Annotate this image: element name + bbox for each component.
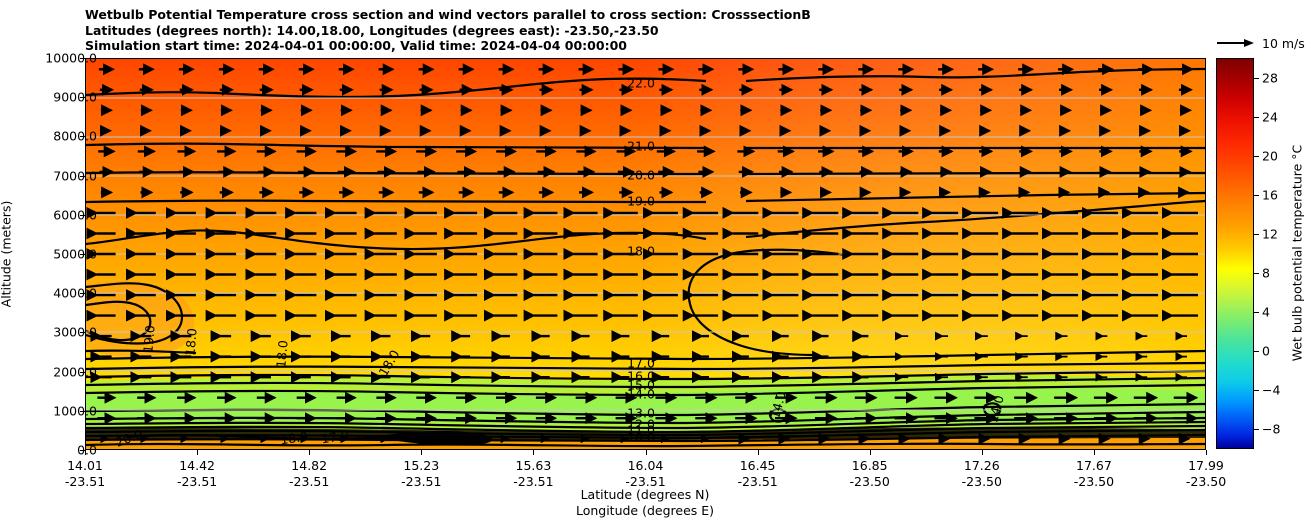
x-tick-label-longitude: -23.51 <box>289 474 329 489</box>
x-tick-label-latitude: 16.04 <box>628 458 664 473</box>
x-tick-label-latitude: 16.45 <box>740 458 776 473</box>
y-tick-label: 0.0 <box>77 443 97 458</box>
y-tick-label: 8000.0 <box>53 129 97 144</box>
colorbar-tick-label: 16 <box>1262 187 1278 202</box>
contour-label: 22.0 <box>627 76 655 91</box>
y-axis-label: Altitude (meters) <box>0 201 14 308</box>
y-tick-label: 10000.0 <box>45 51 97 66</box>
contour-label: 19.0 <box>627 194 655 209</box>
plot-inner: 22.021.020.019.018.017.016.015.014.013.0… <box>86 59 1205 449</box>
colorbar-tick-mark <box>1254 351 1259 352</box>
colorbar-tick-label: 12 <box>1262 226 1278 241</box>
x-tick-mark <box>85 450 86 455</box>
colorbar-tick-label: 4 <box>1262 305 1270 320</box>
x-tick-label-latitude: 15.63 <box>515 458 551 473</box>
colorbar-tick-label: 0 <box>1262 344 1270 359</box>
colorbar-tick-label: 24 <box>1262 109 1278 124</box>
contour-label: 19.0 <box>140 324 157 353</box>
colorbar-tick-label: −4 <box>1262 383 1280 398</box>
x-tick-mark <box>982 450 983 455</box>
x-tick-mark <box>533 450 534 455</box>
colorbar-tick-mark <box>1254 429 1259 430</box>
colorbar-tick-label: −8 <box>1262 422 1280 437</box>
contour-label: 21.0 <box>627 139 655 154</box>
colorbar-tick-label: 28 <box>1262 70 1278 85</box>
contour-label: 18.0 <box>182 327 199 356</box>
contour-label: 18.0 <box>273 339 290 368</box>
x-tick-mark <box>646 450 647 455</box>
x-tick-mark <box>421 450 422 455</box>
x-tick-label-longitude: -23.50 <box>962 474 1002 489</box>
x-tick-mark <box>870 450 871 455</box>
x-tick-label-latitude: 14.01 <box>67 458 103 473</box>
x-tick-label-longitude: -23.51 <box>401 474 441 489</box>
title-line-2: Latitudes (degrees north): 14.00,18.00, … <box>85 23 1205 39</box>
contour-label: 14.0 <box>627 387 655 402</box>
wind-key-label: 10 m/s <box>1262 36 1305 51</box>
x-tick-mark <box>1094 450 1095 455</box>
contour-label: 10.0 <box>627 430 655 445</box>
title-line-3: Simulation start time: 2024-04-01 00:00:… <box>85 38 1205 54</box>
x-tick-label-latitude: 17.67 <box>1076 458 1112 473</box>
x-tick-mark <box>1206 450 1207 455</box>
colorbar-tick-mark <box>1254 312 1259 313</box>
y-tick-label: 9000.0 <box>53 90 97 105</box>
y-tick-label: 2000.0 <box>53 364 97 379</box>
x-axis-label-longitude: Longitude (degrees E) <box>576 503 714 518</box>
x-tick-label-longitude: -23.51 <box>513 474 553 489</box>
contour-label: 20.0 <box>627 168 655 183</box>
y-tick-label: 6000.0 <box>53 207 97 222</box>
colorbar-tick-mark <box>1254 390 1259 391</box>
title-line-1: Wetbulb Potential Temperature cross sect… <box>85 7 1205 23</box>
x-tick-label-longitude: -23.50 <box>1186 474 1226 489</box>
colorbar-tick-mark <box>1254 195 1259 196</box>
x-tick-label-latitude: 15.23 <box>403 458 439 473</box>
plot-canvas: 22.021.020.019.018.017.016.015.014.013.0… <box>86 59 1205 449</box>
colorbar[interactable] <box>1216 58 1254 449</box>
y-tick-label: 4000.0 <box>53 286 97 301</box>
colorbar-tick-mark <box>1254 117 1259 118</box>
x-tick-mark <box>197 450 198 455</box>
colorbar-tick-mark <box>1254 156 1259 157</box>
x-tick-label-latitude: 14.82 <box>291 458 327 473</box>
colorbar-tick-label: 8 <box>1262 266 1270 281</box>
arrow-right-icon <box>1216 36 1256 50</box>
colorbar-tick-mark <box>1254 273 1259 274</box>
x-tick-label-latitude: 16.85 <box>852 458 888 473</box>
x-tick-label-longitude: -23.51 <box>65 474 105 489</box>
x-tick-mark <box>758 450 759 455</box>
contour-label: 18.0 <box>627 244 655 259</box>
y-tick-label: 1000.0 <box>53 403 97 418</box>
y-tick-label: 5000.0 <box>53 247 97 262</box>
cross-section-plot[interactable]: 22.021.020.019.018.017.016.015.014.013.0… <box>85 58 1206 450</box>
x-tick-label-longitude: -23.50 <box>850 474 890 489</box>
colorbar-tick-label: 20 <box>1262 148 1278 163</box>
x-axis-label-latitude: Latitude (degrees N) <box>581 487 710 502</box>
x-tick-label-longitude: -23.51 <box>177 474 217 489</box>
y-tick-label: 3000.0 <box>53 325 97 340</box>
colorbar-label: Wet bulb potential temperature °C <box>1290 145 1305 362</box>
x-tick-label-longitude: -23.51 <box>737 474 777 489</box>
colorbar-tick-mark <box>1254 78 1259 79</box>
chart-title-block: Wetbulb Potential Temperature cross sect… <box>85 7 1205 54</box>
x-tick-label-latitude: 14.42 <box>179 458 215 473</box>
x-tick-mark <box>309 450 310 455</box>
x-tick-label-longitude: -23.50 <box>1074 474 1114 489</box>
x-tick-label-latitude: 17.26 <box>964 458 1000 473</box>
colorbar-tick-mark <box>1254 234 1259 235</box>
x-tick-label-latitude: 17.99 <box>1188 458 1224 473</box>
wind-vector-key: 10 m/s <box>1216 33 1305 53</box>
y-tick-label: 7000.0 <box>53 168 97 183</box>
